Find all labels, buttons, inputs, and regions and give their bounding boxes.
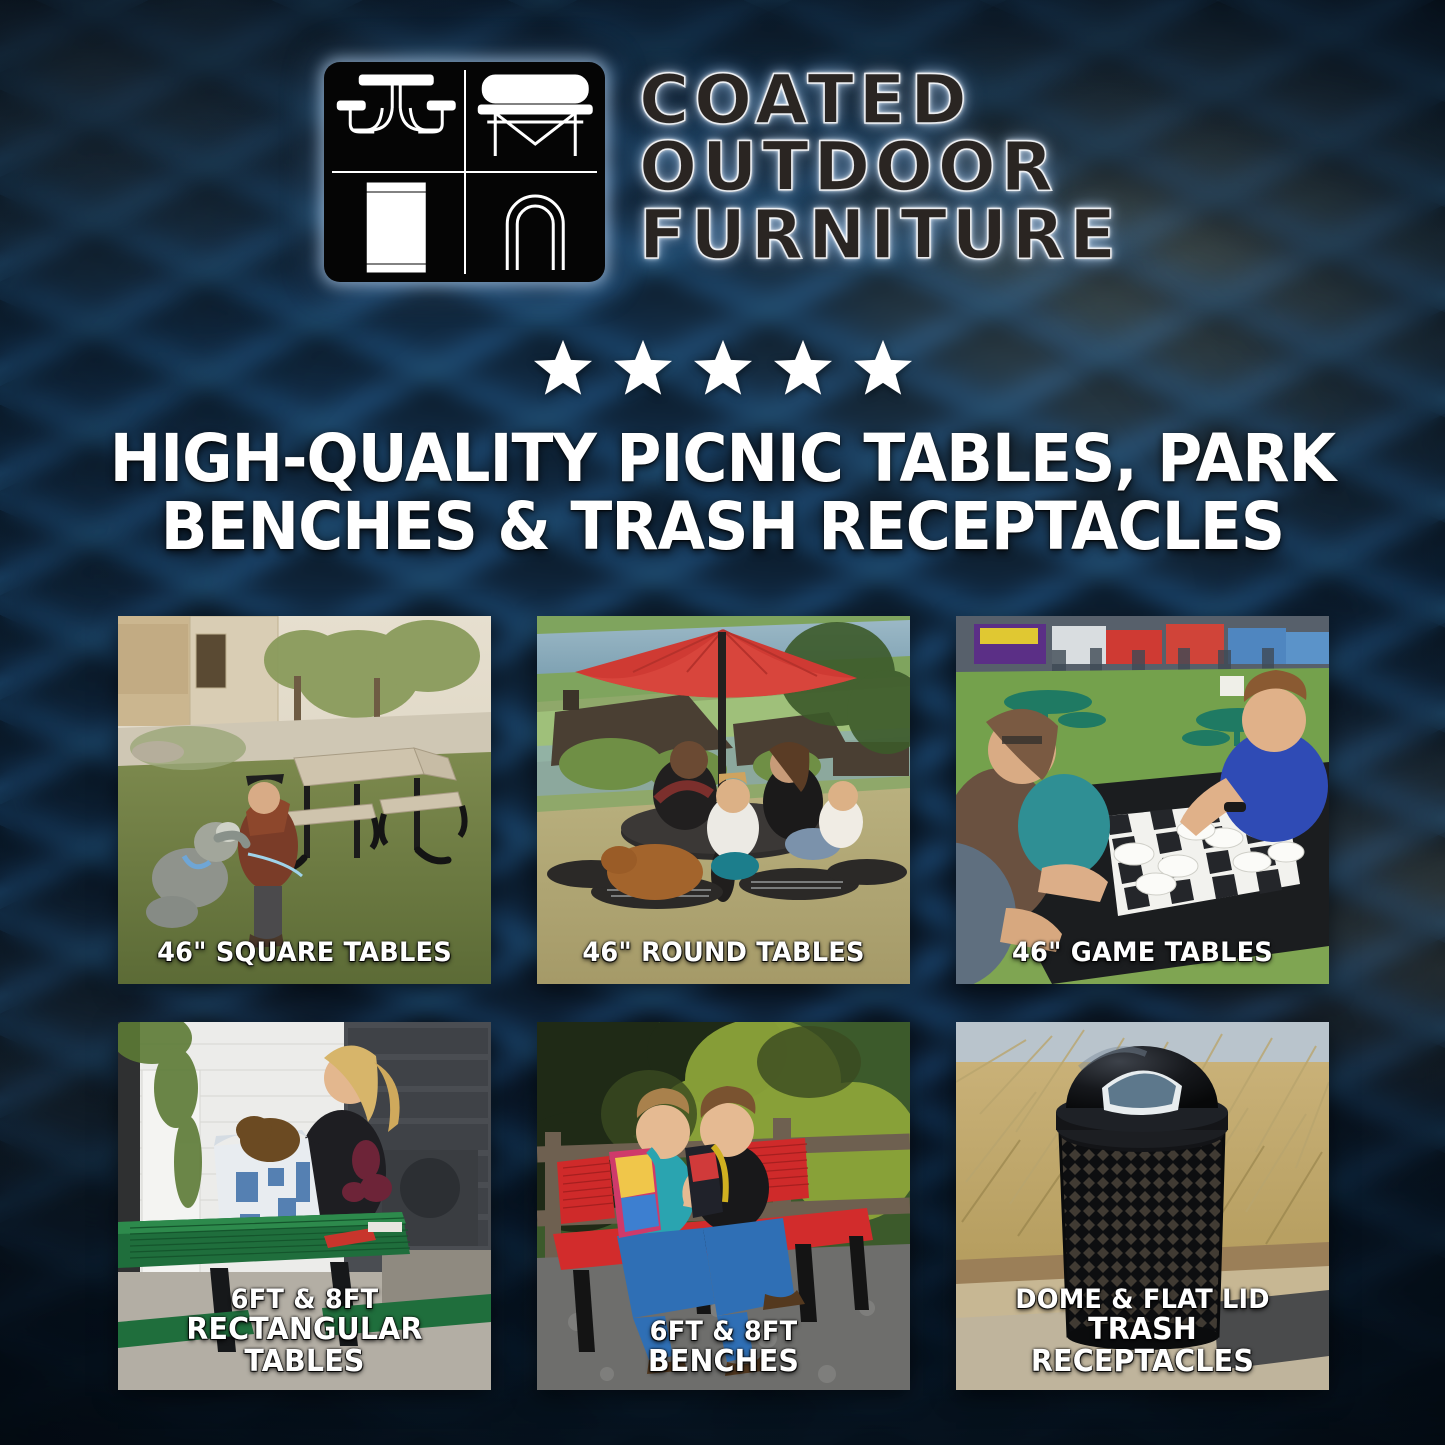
product-caption-line-1: 46" SQUARE TABLES: [157, 937, 452, 968]
product-card-trash-receptacles[interactable]: DOME & FLAT LIDTRASH RECEPTACLES: [956, 1022, 1329, 1390]
four-quadrant-outdoor-furniture-icon: [324, 62, 605, 282]
brand-name-line-3: FURNITURE: [639, 203, 1121, 268]
product-caption-line-1: 46" ROUND TABLES: [582, 937, 864, 968]
product-caption-line-2: BENCHES: [554, 1346, 893, 1378]
trash-receptacle-icon: [324, 172, 465, 282]
headline-line-1: HIGH-QUALITY PICNIC TABLES, PARK: [51, 425, 1395, 493]
star-icon: [852, 338, 914, 398]
product-caption-trash-receptacles: DOME & FLAT LIDTRASH RECEPTACLES: [965, 1286, 1319, 1378]
brand-name-line-1: COATED: [639, 68, 1121, 133]
brand-lockup: COATED OUTDOOR FURNITURE: [0, 62, 1445, 282]
poster-canvas: COATED OUTDOOR FURNITURE HIGH-QUALITY PI…: [0, 0, 1445, 1445]
product-grid: 46" SQUARE TABLES 46" ROUND TABLES: [118, 616, 1345, 1390]
star-icon: [612, 338, 674, 398]
product-photo-square-tables: [118, 616, 491, 984]
product-caption-rectangular-tables: 6FT & 8FTRECTANGULAR TABLES: [127, 1286, 481, 1378]
bench-icon: [465, 62, 606, 172]
product-card-round-tables[interactable]: 46" ROUND TABLES: [537, 616, 910, 984]
product-caption-round-tables: 46" ROUND TABLES: [546, 939, 900, 968]
product-caption-line-1: DOME & FLAT LID: [1015, 1284, 1270, 1315]
star-icon: [692, 338, 754, 398]
product-card-game-tables[interactable]: 46" GAME TABLES: [956, 616, 1329, 984]
product-caption-line-1: 6FT & 8FT: [231, 1284, 379, 1315]
product-photo-round-tables: [537, 616, 910, 984]
product-photo-game-tables: [956, 616, 1329, 984]
headline-line-2: BENCHES & TRASH RECEPTACLES: [51, 493, 1395, 561]
product-caption-line-1: 6FT & 8FT: [650, 1316, 798, 1347]
product-caption-line-2: RECTANGULAR TABLES: [135, 1314, 474, 1378]
header: COATED OUTDOOR FURNITURE HIGH-QUALITY PI…: [0, 0, 1445, 600]
star-rating: [0, 338, 1445, 398]
brand-name-line-2: OUTDOOR: [639, 135, 1121, 200]
brand-wordmark: COATED OUTDOOR FURNITURE: [639, 62, 1121, 268]
product-caption-line-1: 46" GAME TABLES: [1012, 937, 1273, 968]
product-caption-square-tables: 46" SQUARE TABLES: [127, 939, 481, 968]
product-card-benches[interactable]: 6FT & 8FTBENCHES: [537, 1022, 910, 1390]
star-icon: [772, 338, 834, 398]
product-caption-line-2: TRASH RECEPTACLES: [973, 1314, 1312, 1378]
product-caption-benches: 6FT & 8FTBENCHES: [546, 1318, 900, 1378]
product-card-square-tables[interactable]: 46" SQUARE TABLES: [118, 616, 491, 984]
page-title: HIGH-QUALITY PICNIC TABLES, PARK BENCHES…: [0, 425, 1445, 561]
product-card-rectangular-tables[interactable]: 6FT & 8FTRECTANGULAR TABLES: [118, 1022, 491, 1390]
bike-rack-icon: [465, 172, 606, 282]
star-icon: [532, 338, 594, 398]
picnic-table-icon: [324, 62, 465, 172]
product-caption-game-tables: 46" GAME TABLES: [965, 939, 1319, 968]
